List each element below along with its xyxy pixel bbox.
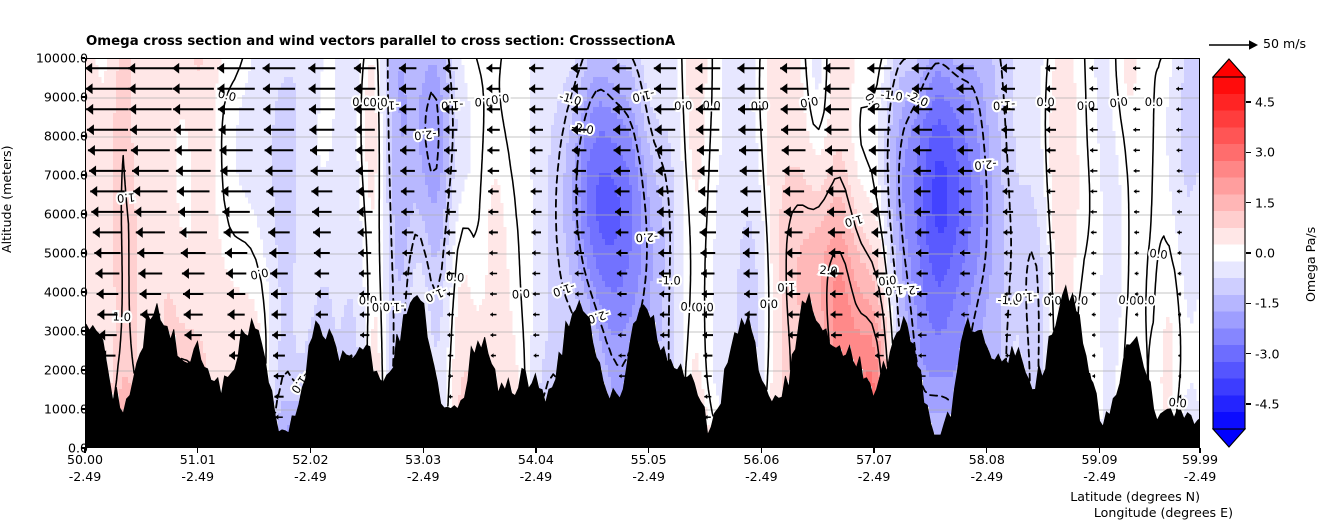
x-axis-longitude-tick-label: -2.49 [1184,469,1217,484]
x-axis-longitude-tick-label: -2.49 [69,469,102,484]
x-axis-latitude-tick-label: 50.00 [67,452,103,467]
colorbar-tick-label: 4.5 [1255,95,1275,110]
title-line-1: Omega cross section and wind vectors par… [86,35,678,50]
arrow-right-icon [1207,38,1259,52]
colorbar [1212,58,1246,448]
y-axis-tick-mark [81,408,86,409]
colorbar-tick-label: -4.5 [1255,396,1280,411]
colorbar-tick-label: 3.0 [1255,145,1275,160]
y-axis-tick-mark [81,96,86,97]
x-axis-label-latitude: Latitude (degrees N) [0,489,1200,504]
x-axis-latitude-tick-label: 51.01 [180,452,216,467]
colorbar-tick-mark [1246,303,1251,304]
x-axis-longitude-tick-label: -2.49 [1083,469,1116,484]
colorbar-tick-label: -1.5 [1255,296,1280,311]
x-axis-longitude-tick-label: -2.49 [520,469,553,484]
x-axis-latitude-tick-label: 55.05 [631,452,667,467]
y-axis-tick-mark [81,330,86,331]
colorbar-tick-label: 1.5 [1255,195,1275,210]
x-axis-latitude-tick-label: 59.99 [1182,452,1218,467]
x-axis-latitude-tick-label: 53.03 [405,452,441,467]
x-axis-longitude-tick-label: -2.49 [294,469,327,484]
y-axis-tick-mark [81,252,86,253]
colorbar-tick-mark [1246,101,1251,102]
x-axis-longitude-tick-label: -2.49 [181,469,214,484]
y-axis-tick-mark [81,174,86,175]
x-axis-longitude-tick-label: -2.49 [745,469,778,484]
x-axis-latitude-tick-label: 58.08 [969,452,1005,467]
reference-vector-key: 50 m/s [1207,36,1320,56]
y-axis-tick-mark [81,291,86,292]
y-axis-tick-mark [81,369,86,370]
colorbar-tick-mark [1246,152,1251,153]
colorbar-tick-label: -3.0 [1255,346,1280,361]
colorbar-tick-mark [1246,252,1251,253]
x-axis-longitude-tick-label: -2.49 [971,469,1004,484]
y-axis-tick-mark [81,135,86,136]
colorbar-tick-mark [1246,202,1251,203]
y-axis-label: Altitude (meters) [0,146,14,253]
y-axis-tick-mark [81,213,86,214]
x-axis-latitude-tick-label: 54.04 [518,452,554,467]
x-axis-latitude-tick-label: 52.02 [292,452,328,467]
y-axis-tick-mark [81,57,86,58]
terrain-silhouette-layer [86,59,1200,448]
x-axis-label-longitude: Longitude (degrees E) [0,505,1233,520]
x-axis-longitude-tick-label: -2.49 [407,469,440,484]
colorbar-gradient [1212,58,1246,448]
omega-cross-section-plot: -2.0-2.0-2.0-2.0-2.0-2.0-2.0-2.0-2.0-2.0… [85,58,1200,448]
colorbar-label: Omega Pa/s [1303,227,1318,302]
colorbar-tick-mark [1246,403,1251,404]
x-axis-latitude-tick-label: 57.07 [856,452,892,467]
colorbar-tick-label: 0.0 [1255,246,1275,261]
x-axis-latitude-tick-label: 59.09 [1082,452,1118,467]
reference-vector-label: 50 m/s [1263,36,1306,51]
x-axis-longitude-tick-label: -2.49 [858,469,891,484]
x-axis-longitude-tick-label: -2.49 [632,469,665,484]
colorbar-tick-mark [1246,353,1251,354]
x-axis-latitude-tick-label: 56.06 [743,452,779,467]
